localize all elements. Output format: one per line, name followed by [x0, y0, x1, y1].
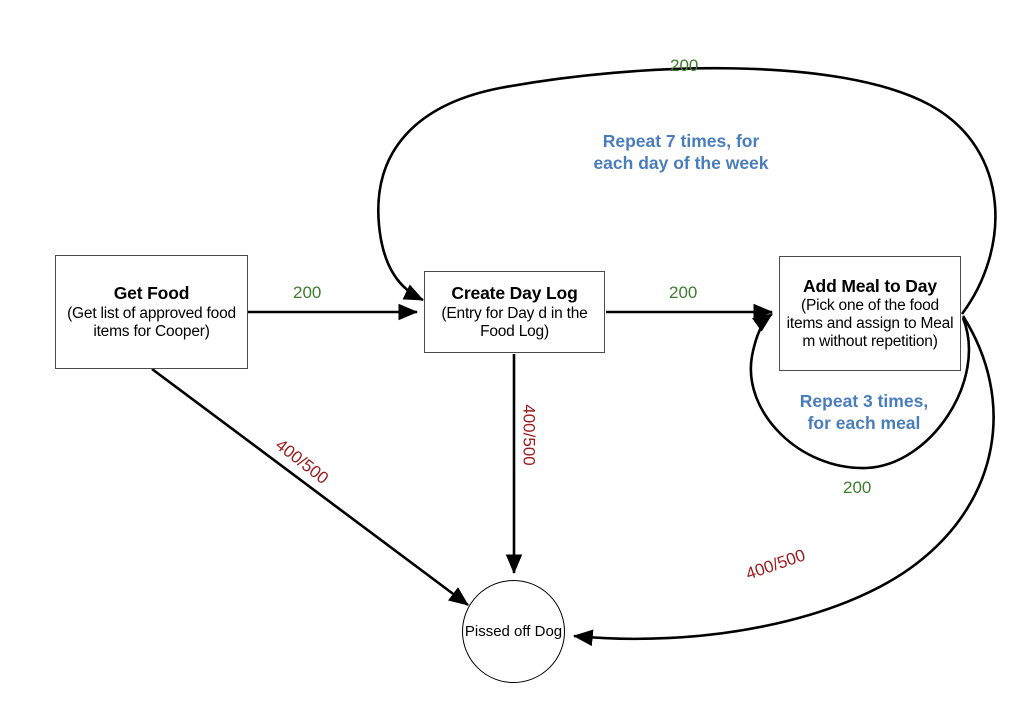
edge-getfood-to-dog	[152, 369, 468, 605]
node-pissed-off-dog[interactable]: Pissed off Dog	[462, 580, 565, 683]
node-pissed-off-dog-label: Pissed off Dog	[465, 622, 562, 642]
node-get-food[interactable]: Get Food (Get list of approved food item…	[55, 255, 248, 369]
node-get-food-subtitle: (Get list of approved food items for Coo…	[56, 305, 247, 341]
annotation-repeat-week: Repeat 7 times, for each day of the week	[556, 130, 806, 175]
edge-label-createdaylog-to-addmeal: 200	[669, 283, 697, 303]
annotation-repeat-meal: Repeat 3 times, for each meal	[768, 390, 960, 435]
edge-label-addmeal-self-loop: 200	[843, 478, 871, 498]
edge-label-getfood-to-createdaylog: 200	[293, 283, 321, 303]
node-add-meal-to-day-subtitle: (Pick one of the food items and assign t…	[780, 297, 960, 351]
node-create-day-log-title: Create Day Log	[451, 283, 577, 303]
node-create-day-log[interactable]: Create Day Log (Entry for Day d in the F…	[424, 271, 605, 353]
edge-label-createdaylog-to-dog: 400/500	[519, 404, 539, 465]
node-create-day-log-subtitle: (Entry for Day d in the Food Log)	[425, 305, 604, 341]
edge-label-addmeal-to-createdaylog: 200	[670, 56, 698, 76]
node-get-food-title: Get Food	[114, 283, 190, 303]
node-add-meal-to-day[interactable]: Add Meal to Day (Pick one of the food it…	[779, 256, 961, 371]
diagram-canvas: Get Food (Get list of approved food item…	[0, 0, 1024, 723]
node-add-meal-to-day-title: Add Meal to Day	[803, 276, 937, 296]
